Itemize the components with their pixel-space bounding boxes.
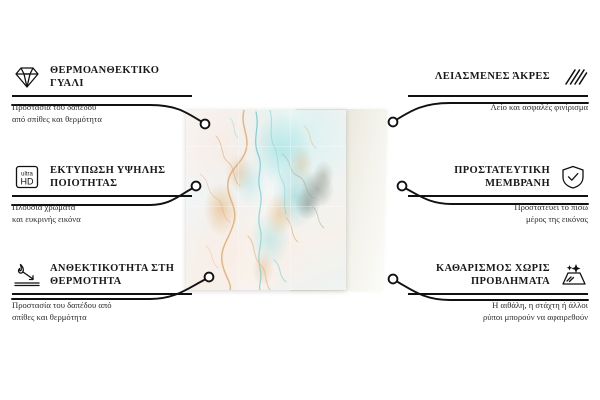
feature-heat-durability: ΑΝΘΕΚΤΙΚΟΤΗΤΑ ΣΤΗ ΘΕΡΜΟΤΗΤΑ Προστασία το… bbox=[12, 260, 192, 324]
feature-easy-cleaning: ΚΑΘΑΡΙΣΜΟΣ ΧΩΡΙΣ ΠΡΟΒΛΗΜΑΤΑ Η αιθάλη, η … bbox=[408, 260, 588, 324]
diamond-icon bbox=[12, 64, 42, 90]
marble-artwork bbox=[186, 110, 346, 290]
divider bbox=[408, 95, 588, 97]
divider bbox=[12, 293, 192, 295]
sparkle-clean-icon bbox=[558, 262, 588, 288]
shield-check-icon bbox=[558, 164, 588, 190]
polished-edges-icon bbox=[558, 64, 588, 90]
divider bbox=[408, 293, 588, 295]
marble-veins bbox=[186, 110, 346, 290]
feature-heat-resistant-glass: ΘΕΡΜΟΑΝΘΕΚΤΙΚΟ ΓΥΑΛΙ Προστασία του δαπέδ… bbox=[12, 62, 192, 126]
infographic-canvas: ΘΕΡΜΟΑΝΘΕΚΤΙΚΟ ΓΥΑΛΙ Προστασία του δαπέδ… bbox=[0, 0, 600, 400]
product-image bbox=[186, 110, 398, 290]
feature-body: Λείο και ασφαλές φινίρισμα bbox=[408, 101, 588, 113]
feature-title: ΕΚΤΥΠΩΣΗ ΥΨΗΛΗΣ ΠΟΙΟΤΗΤΑΣ bbox=[50, 164, 192, 191]
feature-title: ΘΕΡΜΟΑΝΘΕΚΤΙΚΟ ΓΥΑΛΙ bbox=[50, 64, 192, 91]
feature-protective-film: ΠΡΟΣΤΑΤΕΥΤΙΚΗ ΜΕΜΒΡΑΝΗ Προστατεύει το πί… bbox=[408, 162, 588, 226]
feature-body: Η αιθάλη, η στάχτη ή άλλοιρύποι μπορούν … bbox=[408, 299, 588, 324]
feature-title: ΚΑΘΑΡΙΣΜΟΣ ΧΩΡΙΣ ΠΡΟΒΛΗΜΑΤΑ bbox=[408, 262, 550, 289]
feature-title: ΠΡΟΣΤΑΤΕΥΤΙΚΗ ΜΕΜΒΡΑΝΗ bbox=[408, 164, 550, 191]
divider bbox=[12, 195, 192, 197]
feature-body: Προστασία του δαπέδου απόσπίθες και θερμ… bbox=[12, 299, 192, 324]
ultra-hd-badge-icon: ultra HD bbox=[12, 164, 42, 190]
feature-polished-edges: ΛΕΙΑΣΜΕΝΕΣ ΆΚΡΕΣ Λείο και ασφαλές φινίρι… bbox=[408, 62, 588, 113]
feature-body: Προστασία του δαπέδουαπό σπίθες και θερμ… bbox=[12, 101, 192, 126]
glass-panel-front bbox=[186, 110, 346, 290]
feature-high-quality-print: ultra HD ΕΚΤΥΠΩΣΗ ΥΨΗΛΗΣ ΠΟΙΟΤΗΤΑΣ Πλούσ… bbox=[12, 162, 192, 226]
flame-deflect-icon bbox=[12, 262, 42, 288]
feature-title: ΑΝΘΕΚΤΙΚΟΤΗΤΑ ΣΤΗ ΘΕΡΜΟΤΗΤΑ bbox=[50, 262, 192, 289]
divider bbox=[408, 195, 588, 197]
feature-body: Πλούσια χρώματακαι ευκρινής εικόνα bbox=[12, 201, 192, 226]
feature-body: Προστατεύει το πίσωμέρος της εικόνας bbox=[408, 201, 588, 226]
divider bbox=[12, 95, 192, 97]
feature-title: ΛΕΙΑΣΜΕΝΕΣ ΆΚΡΕΣ bbox=[408, 70, 550, 83]
svg-text:HD: HD bbox=[21, 177, 34, 187]
